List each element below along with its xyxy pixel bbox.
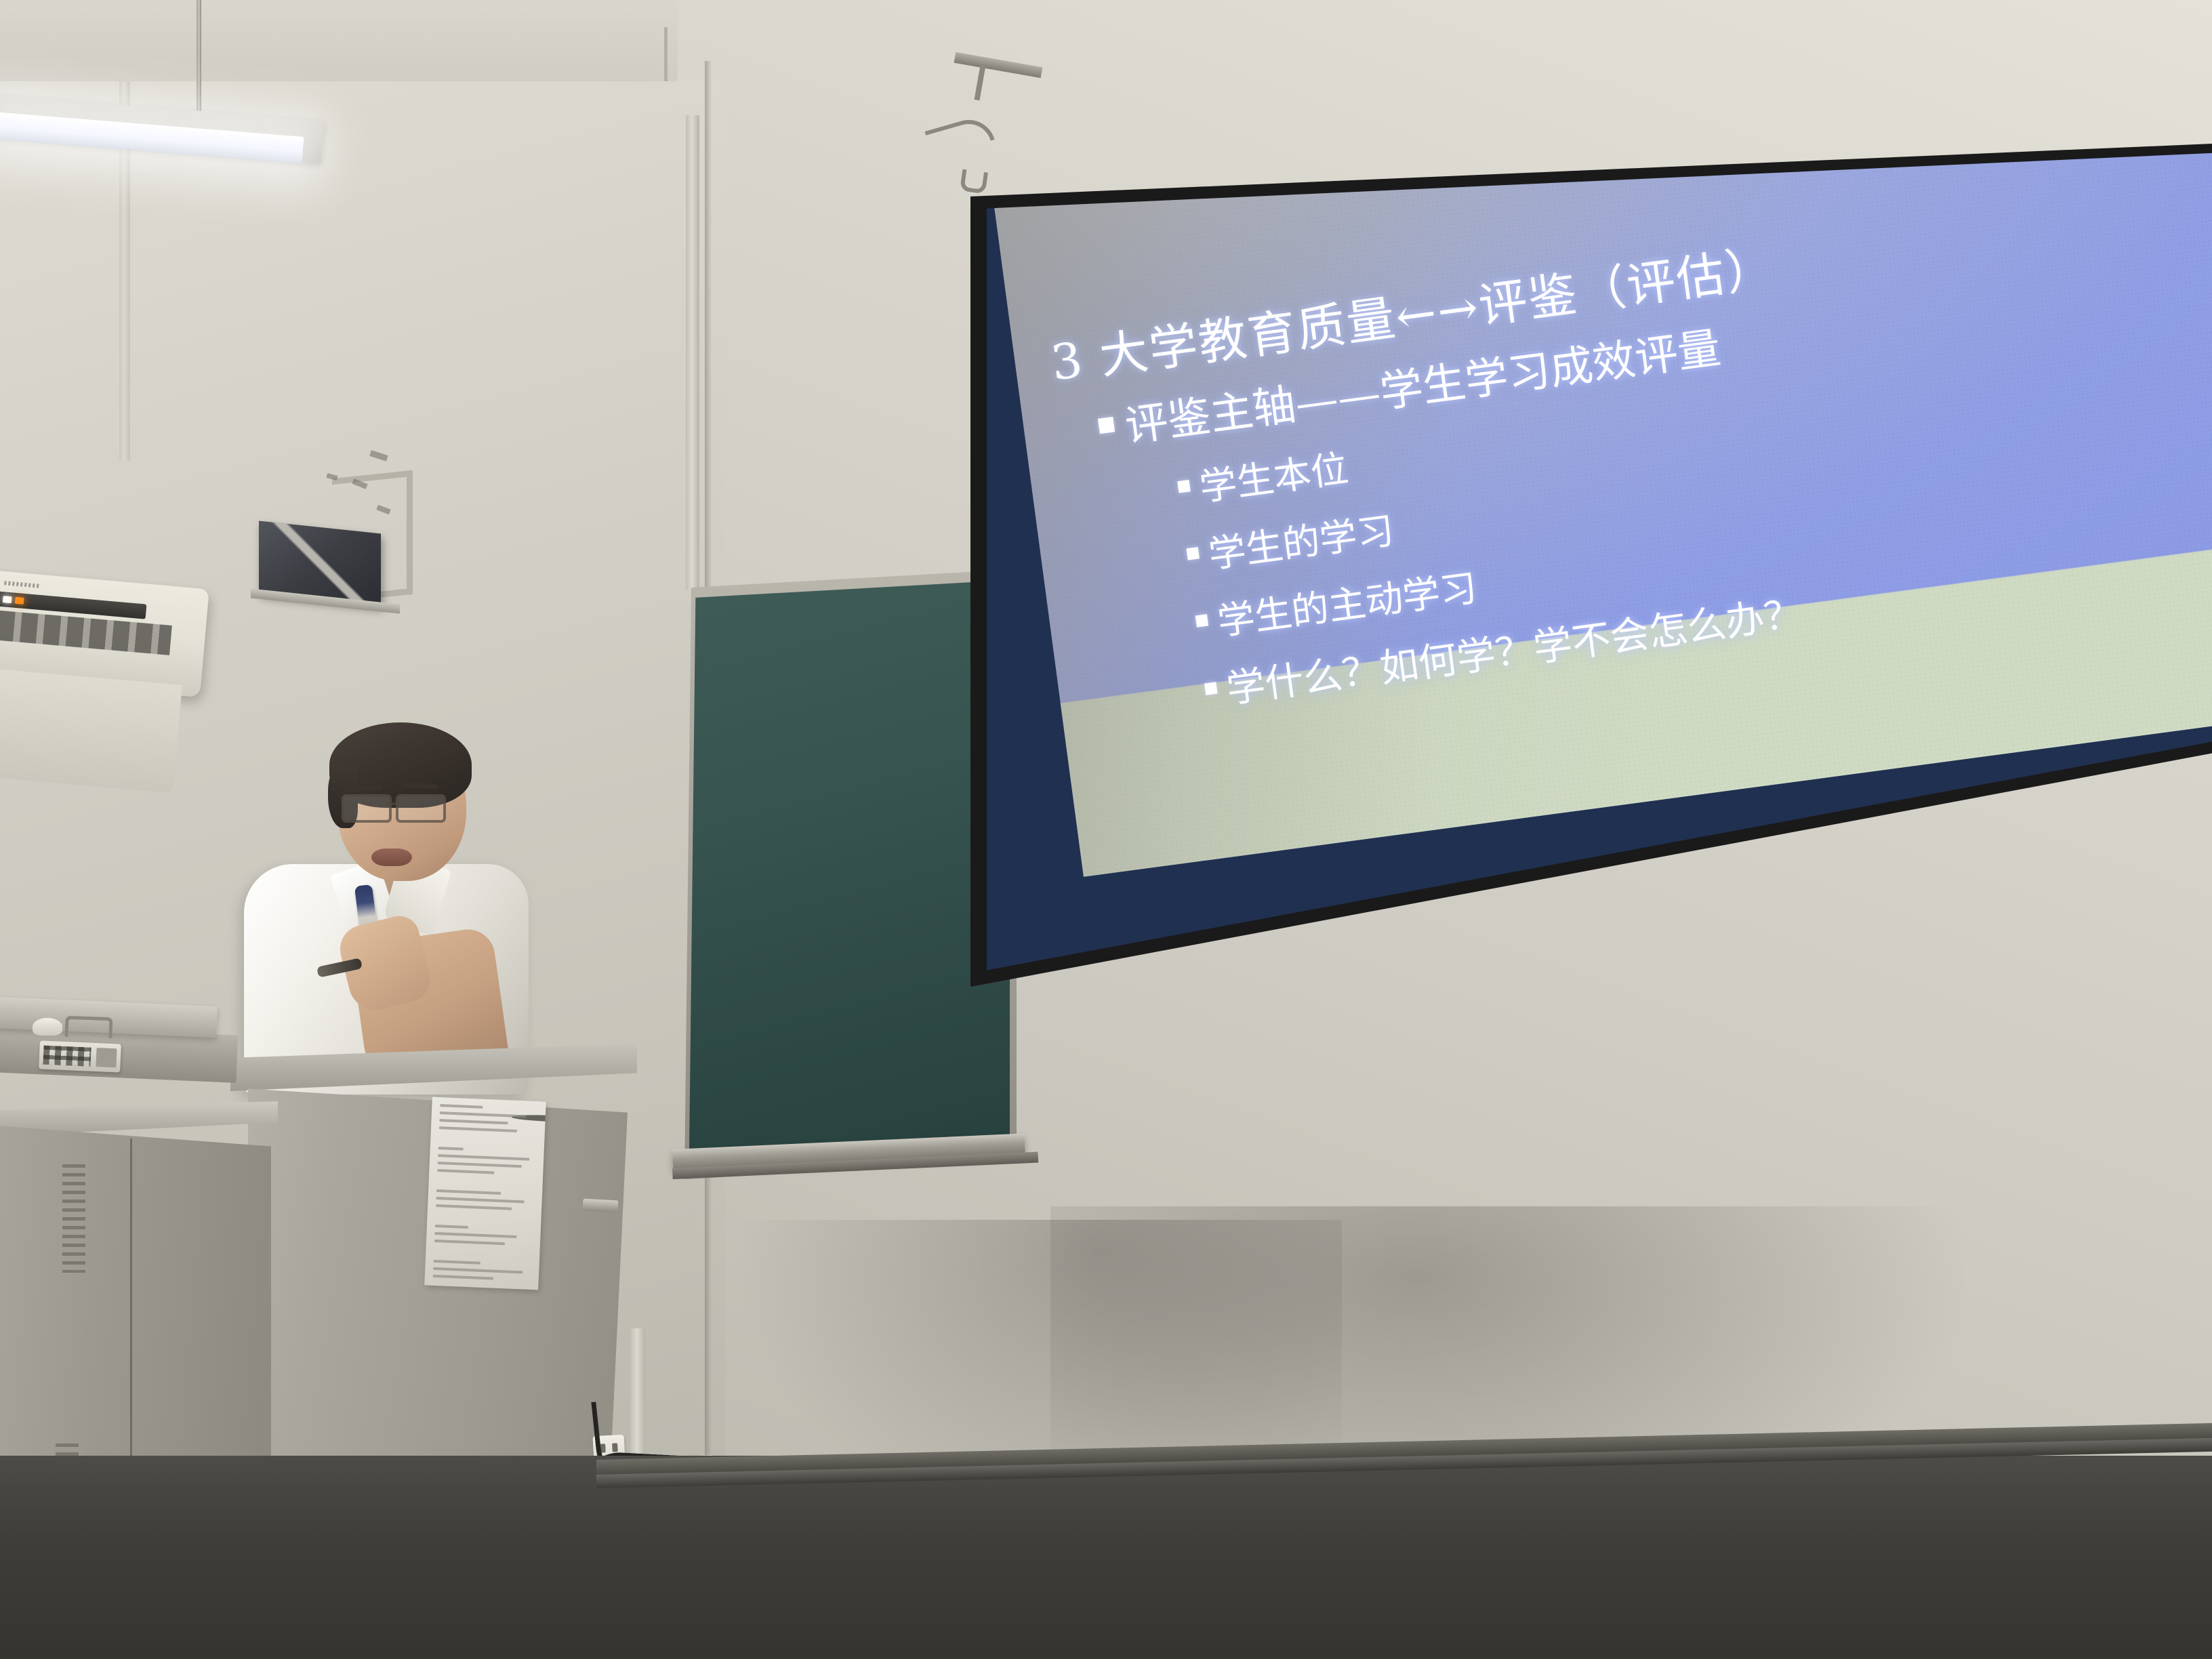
bullet-square-icon xyxy=(1177,480,1190,493)
air-conditioner-body xyxy=(0,668,182,794)
presenter xyxy=(258,718,556,1084)
slide-text-layer: 3 大学教育质量←→评鉴（评估） 评鉴主轴——学生学习成效评量 学生本位 xyxy=(987,150,2212,877)
chalkboard xyxy=(678,569,1017,1193)
desk-object xyxy=(33,1018,62,1036)
ac-power-led-icon xyxy=(3,596,12,603)
ac-brand-label xyxy=(4,581,39,588)
ac-air-vent xyxy=(0,609,172,655)
eyeglasses-bridge xyxy=(386,802,397,805)
notice-paper xyxy=(424,1097,546,1290)
bullet-square-icon xyxy=(1195,614,1208,627)
wall-conduit-pipe xyxy=(686,115,699,590)
projector-remote-control[interactable] xyxy=(39,1040,121,1072)
bullet-square-icon xyxy=(1098,417,1115,434)
slide-bullet-3: 学生的学习 xyxy=(1183,499,1397,581)
microphone-holder[interactable] xyxy=(64,1016,112,1038)
slide-bullet-2-text: 学生本位 xyxy=(1195,438,1351,512)
eyeglasses-icon xyxy=(342,794,392,823)
bullet-square-icon xyxy=(1204,682,1217,695)
presenter-mouth xyxy=(371,848,412,866)
light-suspension-rod xyxy=(197,0,201,114)
remote-keypad-icon[interactable] xyxy=(43,1046,91,1067)
chalkboard-surface xyxy=(686,580,1010,1164)
floor xyxy=(0,1456,2212,1659)
lectern-drawer-handle[interactable] xyxy=(583,1199,619,1213)
bullet-square-icon xyxy=(1186,547,1199,560)
cabinet-vent xyxy=(62,1164,85,1273)
ac-status-led-icon xyxy=(15,597,24,605)
slide-bullet-3-text: 学生的学习 xyxy=(1205,499,1397,578)
remote-display-icon xyxy=(96,1048,117,1067)
slide-bullet-2: 学生本位 xyxy=(1174,438,1351,514)
classroom-photo: 3 大学教育质量←→评鉴（评估） 评鉴主轴——学生学习成效评量 学生本位 xyxy=(0,0,2212,1659)
eyeglasses-icon xyxy=(396,794,446,823)
projected-slide: 3 大学教育质量←→评鉴（评估） 评鉴主轴——学生学习成效评量 学生本位 xyxy=(987,150,2212,877)
